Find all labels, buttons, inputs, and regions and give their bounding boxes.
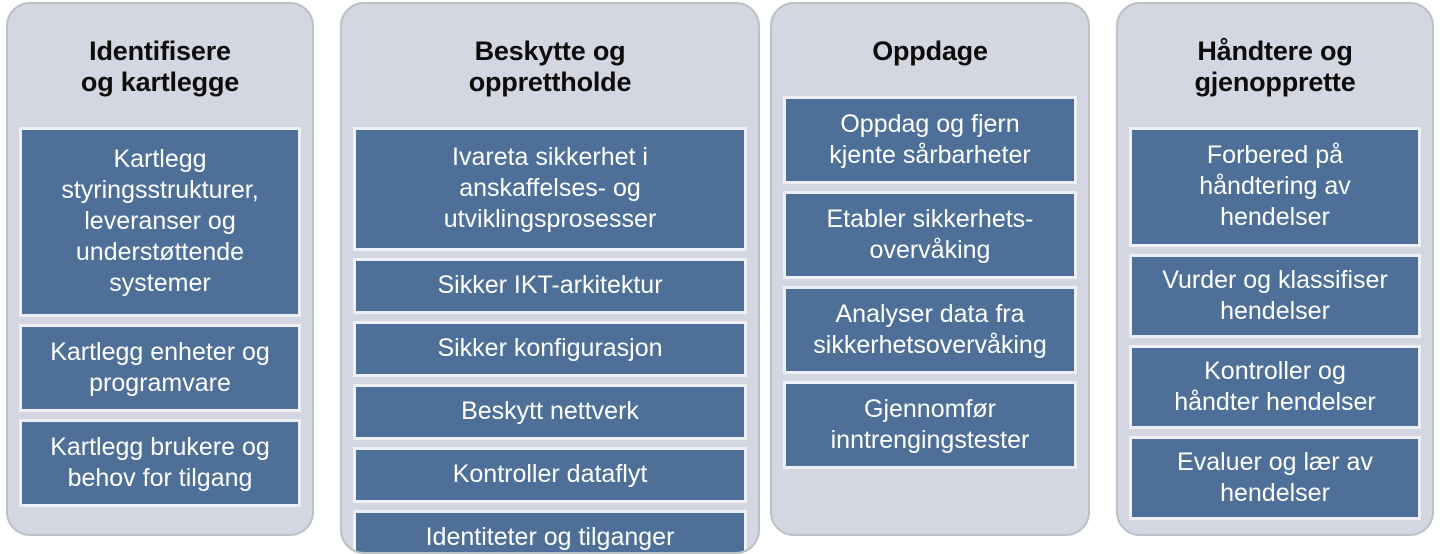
item-card[interactable]: Kontroller og håndter hendelser [1129,345,1421,429]
item-card[interactable]: Sikker IKT-arkitektur [353,258,747,314]
column-panel-beskytte[interactable]: Beskytte og opprettholde Ivareta sikkerh… [340,2,760,554]
column-item-list-beskytte: Ivareta sikkerhet i anskaffelses- og utv… [353,127,747,540]
item-card[interactable]: Kontroller dataflyt [353,447,747,503]
item-card[interactable]: Evaluer og lær av hendelser [1129,436,1421,520]
column-panel-handtere[interactable]: Håndtere og gjenopprette Forbered på hån… [1116,2,1434,536]
column-panel-oppdage[interactable]: Oppdage Oppdag og fjern kjente sårbarhet… [770,2,1090,536]
framework-diagram: Identifisere og kartlegge Kartlegg styri… [0,0,1440,544]
item-card[interactable]: Sikker konfigurasjon [353,321,747,377]
item-card[interactable]: Analyser data fra sikkerhetsovervåking [783,286,1077,374]
item-card[interactable]: Vurder og klassifiser hendelser [1129,254,1421,338]
column-panel-identifisere[interactable]: Identifisere og kartlegge Kartlegg styri… [6,2,314,536]
item-card[interactable]: Gjennomfør inntrengingstester [783,381,1077,469]
item-card[interactable]: Beskytt nettverk [353,384,747,440]
column-title-identifisere: Identifisere og kartlegge [19,34,301,104]
column-item-list-oppdage: Oppdag og fjern kjente sårbarheter Etabl… [783,96,1077,522]
item-card[interactable]: Oppdag og fjern kjente sårbarheter [783,96,1077,184]
column-title-beskytte: Beskytte og opprettholde [353,34,747,104]
column-item-list-identifisere: Kartlegg styringsstrukturer, leveranser … [19,127,301,522]
item-card[interactable]: Kartlegg styringsstrukturer, leveranser … [19,127,301,317]
item-card[interactable]: Forbered på håndtering av hendelser [1129,127,1421,247]
item-card[interactable]: Identiteter og tilganger [353,510,747,554]
column-title-handtere: Håndtere og gjenopprette [1129,34,1421,104]
item-card[interactable]: Kartlegg enheter og programvare [19,324,301,412]
item-card[interactable]: Etabler sikkerhets- overvåking [783,191,1077,279]
column-item-list-handtere: Forbered på håndtering av hendelser Vurd… [1129,127,1421,522]
item-card[interactable]: Kartlegg brukere og behov for tilgang [19,419,301,507]
item-card[interactable]: Ivareta sikkerhet i anskaffelses- og utv… [353,127,747,251]
column-title-oppdage: Oppdage [783,34,1077,73]
